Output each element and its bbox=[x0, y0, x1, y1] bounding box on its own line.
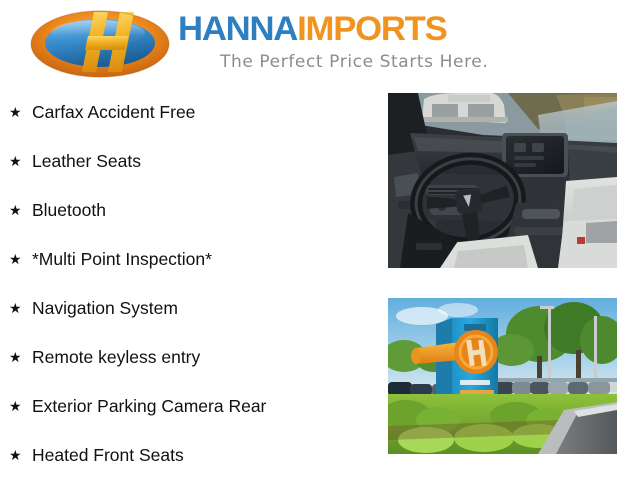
star-icon: ★ bbox=[9, 284, 22, 333]
brand-header: HANNAIMPORTS The Perfect Price Starts He… bbox=[0, 0, 640, 88]
star-icon: ★ bbox=[9, 137, 22, 186]
star-icon: ★ bbox=[9, 186, 22, 235]
list-item-label: Bluetooth bbox=[32, 200, 106, 220]
vehicle-interior-photo-svg bbox=[388, 93, 617, 268]
vehicle-interior-photo bbox=[388, 93, 617, 268]
star-icon: ★ bbox=[9, 235, 22, 284]
list-item-label: Navigation System bbox=[32, 298, 178, 318]
list-item-label: Heated Front Seats bbox=[32, 445, 184, 465]
dealership-sign-photo bbox=[388, 298, 617, 454]
dealership-sign-photo-svg bbox=[388, 298, 617, 454]
list-item: ★ Carfax Accident Free bbox=[0, 88, 380, 137]
list-item: ★ Remote keyless entry bbox=[0, 333, 380, 382]
star-icon: ★ bbox=[9, 333, 22, 382]
star-icon: ★ bbox=[9, 431, 22, 480]
vehicle-feature-list: ★ Carfax Accident Free ★ Leather Seats ★… bbox=[0, 88, 380, 480]
star-icon: ★ bbox=[9, 88, 22, 137]
star-icon: ★ bbox=[9, 382, 22, 431]
list-item: ★ Navigation System bbox=[0, 284, 380, 333]
brand-name-imports: IMPORTS bbox=[297, 10, 446, 48]
list-item-label: Leather Seats bbox=[32, 151, 141, 171]
list-item-label: Remote keyless entry bbox=[32, 347, 200, 367]
brand-name: HANNAIMPORTS bbox=[178, 12, 447, 46]
logo-svg bbox=[28, 8, 172, 78]
brand-tagline: The Perfect Price Starts Here. bbox=[220, 52, 488, 72]
list-item: ★ Exterior Parking Camera Rear bbox=[0, 382, 380, 431]
hanna-oval-h-logo-icon bbox=[28, 8, 172, 78]
list-item-label: Exterior Parking Camera Rear bbox=[32, 396, 266, 416]
list-item: ★ Heated Front Seats bbox=[0, 431, 380, 480]
list-item: ★ *Multi Point Inspection* bbox=[0, 235, 380, 284]
list-item-label: Carfax Accident Free bbox=[32, 102, 195, 122]
list-item: ★ Bluetooth bbox=[0, 186, 380, 235]
list-item-label: *Multi Point Inspection* bbox=[32, 249, 212, 269]
brand-wordmark: HANNAIMPORTS The Perfect Price Starts He… bbox=[178, 12, 518, 76]
brand-name-hanna: HANNA bbox=[178, 10, 297, 48]
list-item: ★ Leather Seats bbox=[0, 137, 380, 186]
